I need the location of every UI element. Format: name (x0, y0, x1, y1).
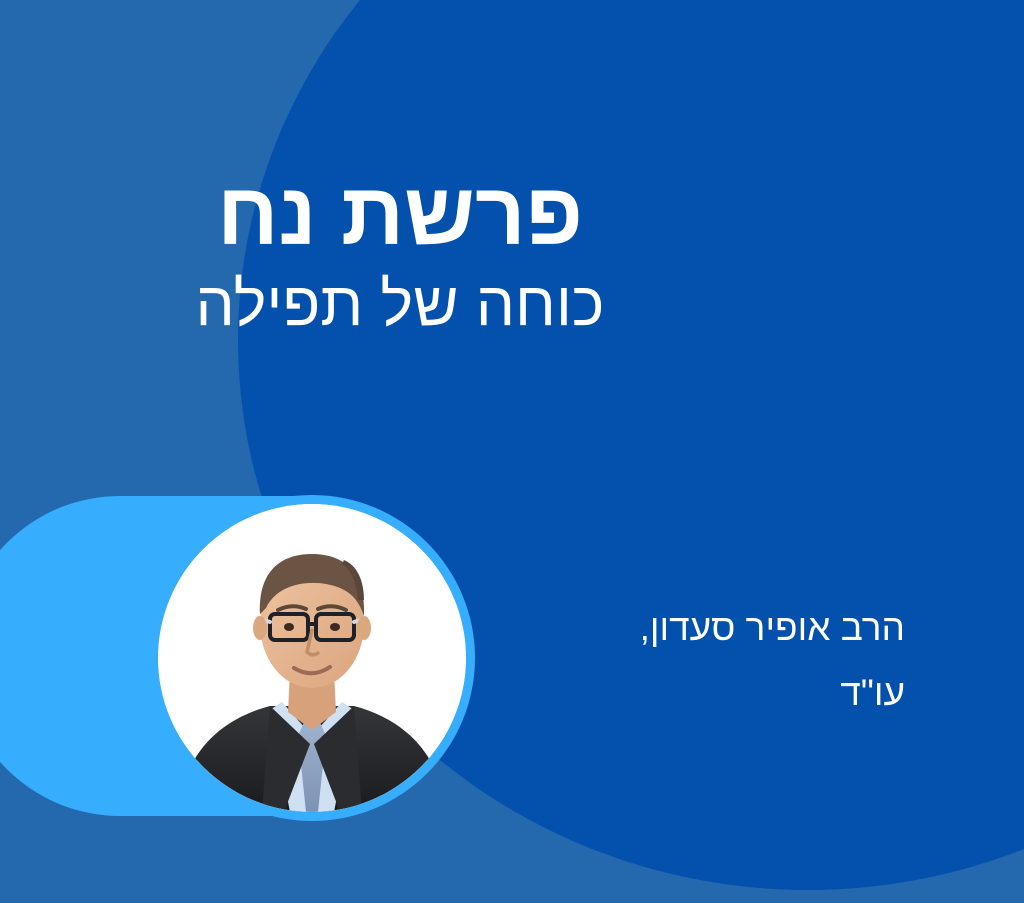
avatar (158, 504, 466, 812)
page-subtitle: כוחה של תפילה (70, 270, 730, 339)
speaker-name: הרב אופיר סעדון, (485, 596, 905, 661)
speaker-block: הרב אופיר סעדון, עו"ד (485, 596, 905, 726)
page-title: פרשת נח (70, 168, 730, 260)
poster-canvas: פרשת נח כוחה של תפילה הרב אופיר סעדון, ע… (0, 0, 1024, 903)
portrait-photo (158, 504, 466, 812)
speaker-credential: עו"ד (485, 661, 905, 726)
headline-block: פרשת נח כוחה של תפילה (70, 168, 730, 339)
